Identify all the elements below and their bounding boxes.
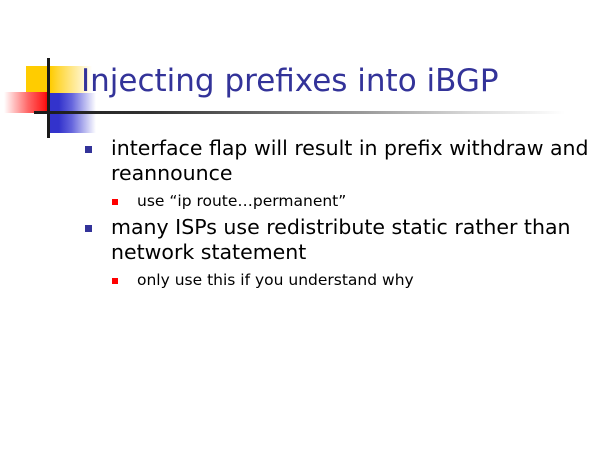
bullet-text: interface flap will result in prefix wit… <box>111 136 592 186</box>
horizontal-rule-icon <box>34 111 565 114</box>
bullet-text: use “ip route…permanent” <box>137 191 592 211</box>
bullet-item: many ISPs use redistribute static rather… <box>0 215 600 265</box>
bullet-text: only use this if you understand why <box>137 270 592 290</box>
bullet-item: interface flap will result in prefix wit… <box>0 136 600 186</box>
bullet-item: only use this if you understand why <box>0 270 600 290</box>
bullet-item: use “ip route…permanent” <box>0 191 600 211</box>
bullet-marker-square-icon <box>85 146 92 153</box>
bullet-text: many ISPs use redistribute static rather… <box>111 215 592 265</box>
bullet-marker-square-icon <box>112 278 118 284</box>
bullet-marker-square-icon <box>85 225 92 232</box>
slide: Injecting prefixes into iBGP interface f… <box>0 0 600 450</box>
red-gradient-square-icon <box>4 92 48 113</box>
bullet-marker-square-icon <box>112 199 118 205</box>
vertical-rule-icon <box>47 58 50 138</box>
slide-body: interface flap will result in prefix wit… <box>0 136 600 294</box>
slide-title: Injecting prefixes into iBGP <box>81 62 581 100</box>
